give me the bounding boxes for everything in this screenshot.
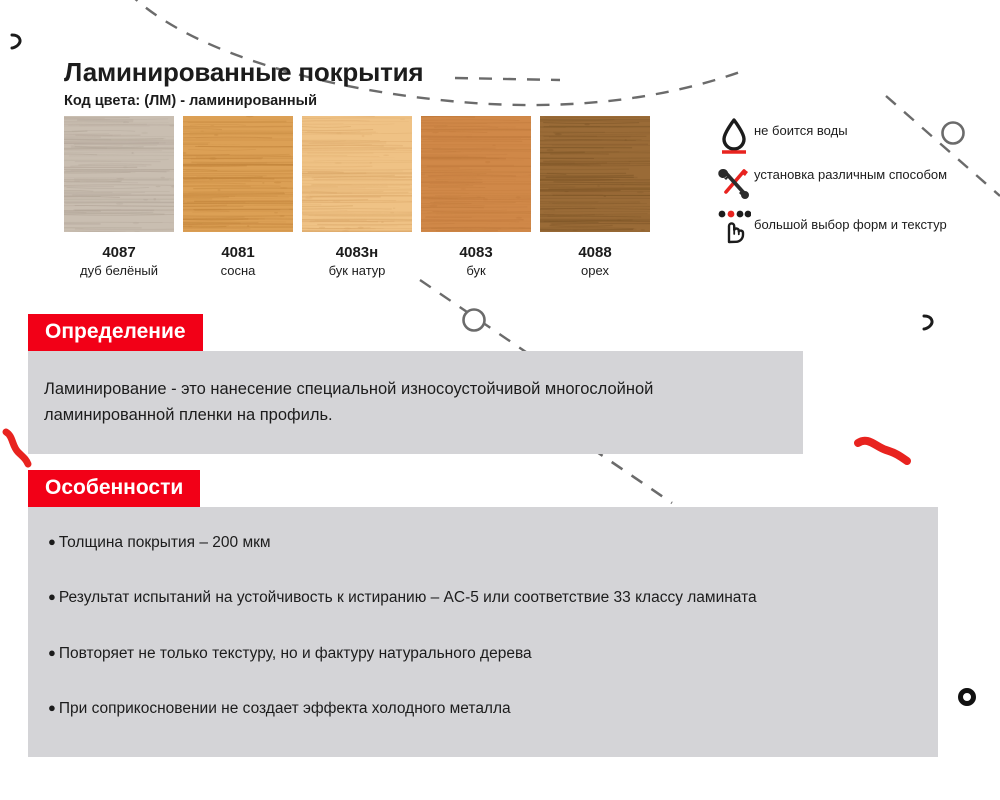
tools-cross-icon: [714, 164, 754, 199]
swatch-item[interactable]: 4083 бук: [421, 116, 531, 277]
swatch-item[interactable]: 4087 дуб белёный: [64, 116, 174, 277]
feature-label: установка различным способом: [754, 164, 947, 183]
red-squiggle-left: [6, 432, 28, 464]
definition-text: Ламинирование - это нанесение специально…: [44, 377, 744, 428]
feature-item: не боится воды: [714, 116, 964, 155]
swatch-item[interactable]: 4083н бук натур: [302, 116, 412, 277]
wood-grain: [540, 116, 650, 232]
swatch-name: сосна: [183, 264, 293, 278]
wood-swatch[interactable]: [302, 116, 412, 232]
list-item-text: Повторяет не только текстуру, но и факту…: [59, 645, 532, 662]
characteristics-panel: ●Толщина покрытия – 200 мкм ●Результат и…: [28, 507, 938, 757]
crescent-mark-top-left: [12, 35, 20, 48]
swatch-code: 4088: [540, 245, 650, 261]
list-item-text: Результат испытаний на устойчивость к ис…: [59, 589, 757, 606]
list-item: ●Повторяет не только текстуру, но и факт…: [48, 642, 912, 665]
wood-swatch[interactable]: [540, 116, 650, 232]
swatch-name: орех: [540, 264, 650, 278]
bullet-marker: ●: [48, 700, 56, 715]
dashed-curve-upper-right: [455, 78, 560, 80]
wood-grain: [421, 116, 531, 232]
bullet-marker: ●: [48, 589, 56, 604]
definition-section: Определение Ламинирование - это нанесени…: [28, 314, 803, 454]
feature-item: установка различным способом: [714, 164, 964, 199]
list-item-text: Толщина покрытия – 200 мкм: [59, 534, 271, 551]
list-item: ●При соприкосновении не создает эффекта …: [48, 697, 912, 720]
page-header: Ламинированные покрытия Код цвета: (ЛМ) …: [64, 58, 423, 110]
swatch-name: дуб белёный: [64, 264, 174, 278]
swatch-item[interactable]: 4088 орех: [540, 116, 650, 277]
characteristics-section: Особенности ●Толщина покрытия – 200 мкм …: [28, 470, 938, 757]
crescent-mark-right: [924, 316, 932, 329]
ring-mark-bottom-right: [961, 691, 974, 704]
list-item: ●Результат испытаний на устойчивость к и…: [48, 586, 912, 609]
pointing-hand-icon: [714, 208, 754, 245]
feature-list: не боится воды установка различным спосо…: [714, 116, 964, 254]
swatch-row: 4087 дуб белёный 4081 сосна 4083н бук на…: [64, 116, 650, 277]
swatch-name: бук: [421, 264, 531, 278]
list-item-text: При соприкосновении не создает эффекта х…: [59, 700, 511, 717]
feature-label: большой выбор форм и текстур: [754, 208, 947, 233]
wood-swatch[interactable]: [421, 116, 531, 232]
wood-grain: [183, 116, 293, 232]
bullet-marker: ●: [48, 534, 56, 549]
feature-item: большой выбор форм и текстур: [714, 208, 964, 245]
wood-swatch[interactable]: [64, 116, 174, 232]
swatch-code: 4087: [64, 245, 174, 261]
wood-grain: [64, 116, 174, 232]
page-subtitle: Код цвета: (ЛМ) - ламинированный: [64, 94, 423, 110]
swatch-code: 4081: [183, 245, 293, 261]
wood-grain: [302, 116, 412, 232]
characteristics-tab-label: Особенности: [28, 470, 200, 507]
water-drop-icon: [714, 116, 754, 155]
swatch-code: 4083: [421, 245, 531, 261]
list-item: ●Толщина покрытия – 200 мкм: [48, 531, 912, 554]
swatch-code: 4083н: [302, 245, 412, 261]
swatch-item[interactable]: 4081 сосна: [183, 116, 293, 277]
page-title: Ламинированные покрытия: [64, 58, 423, 87]
bullet-marker: ●: [48, 645, 56, 660]
red-squiggle-right: [858, 441, 907, 461]
feature-label: не боится воды: [754, 116, 848, 139]
wood-swatch[interactable]: [183, 116, 293, 232]
swatch-name: бук натур: [302, 264, 412, 278]
definition-tab-label: Определение: [28, 314, 203, 351]
definition-panel: Ламинирование - это нанесение специально…: [28, 351, 803, 454]
